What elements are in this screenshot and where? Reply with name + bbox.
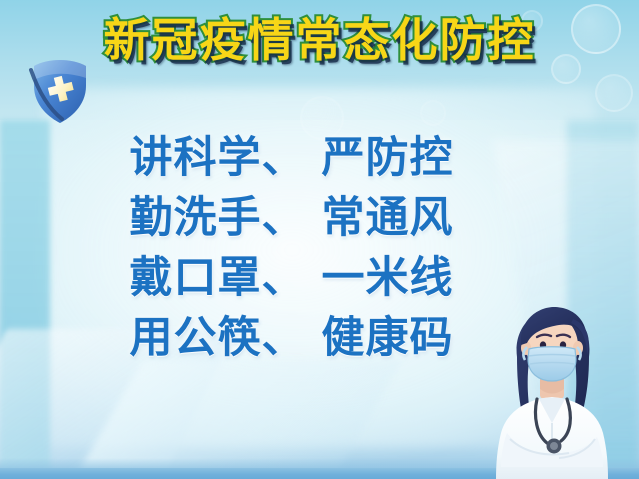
bubble-circle-icon (420, 100, 446, 126)
slogan-line-2: 勤洗手、 常通风 (0, 188, 639, 248)
bubble-circle-icon (595, 74, 633, 112)
medical-shield-icon (28, 56, 94, 126)
slogan-line-1: 讲科学、 严防控 (0, 128, 639, 188)
poster-canvas: 新冠疫情常态化防控 讲科学、 严防控 勤洗手、 常通风 戴口罩、 一米线 用公筷… (0, 0, 639, 479)
poster-title: 新冠疫情常态化防控 (104, 16, 536, 64)
poster-title-container: 新冠疫情常态化防控 (0, 16, 639, 64)
background-diagonal-shape-b (57, 359, 404, 479)
doctor-illustration (477, 299, 627, 479)
